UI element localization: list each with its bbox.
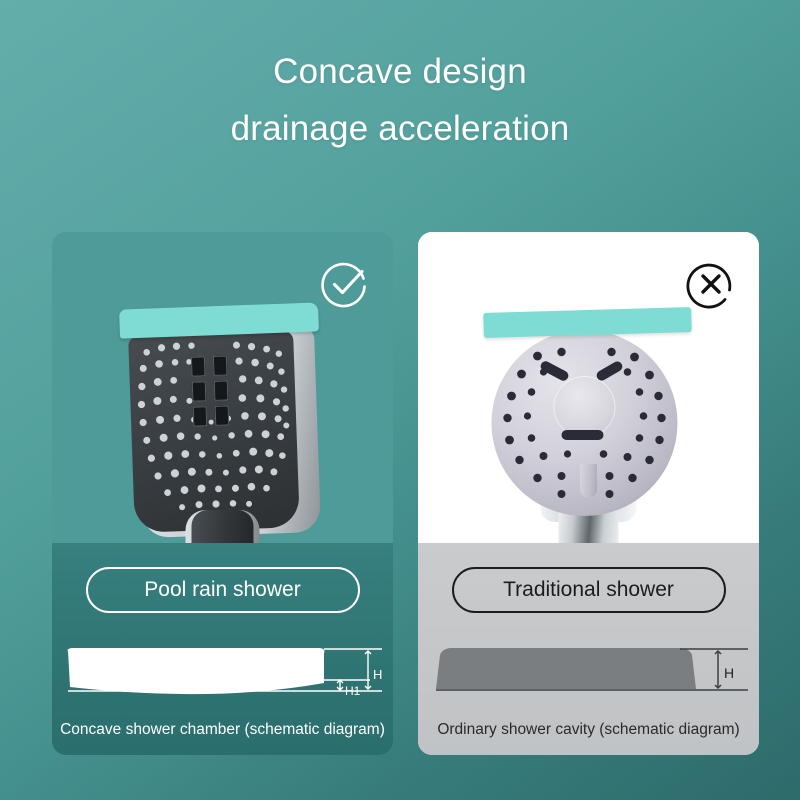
product-photo-left [52,232,393,543]
center-slot-vents [190,355,234,426]
product-photo-right [418,232,759,543]
page-title: Concave design drainage acceleration [0,44,800,157]
shower-drip-nub [580,464,597,498]
product-label-pill-left: Pool rain shower [86,567,360,613]
infographic-canvas: Concave design drainage acceleration [0,0,800,800]
svg-text:H: H [724,665,734,681]
shower-handle [192,510,254,543]
schematic-caption-right: Ordinary shower cavity (schematic diagra… [418,721,759,739]
schematic-panel-right: Traditional shower H Ordinary shower cav… [418,543,759,755]
ordinary-cavity-schematic: H [418,643,759,715]
round-shower-head-graphic [481,304,696,543]
product-label-pill-right: Traditional shower [452,567,726,613]
comparison-card-pool-rain-shower: Pool rain shower H1 [52,232,393,755]
shower-nozzle-face [128,331,300,533]
square-shower-head-graphic [115,306,330,543]
check-circle-icon [319,258,371,310]
svg-text:H: H [373,667,382,682]
mint-accent-cap-right [483,307,692,338]
x-circle-icon [685,258,737,310]
schematic-caption-left: Concave shower chamber (schematic diagra… [52,721,393,739]
center-ring [553,376,615,438]
headline-line-2: drainage acceleration [0,101,800,158]
center-arc-slot [561,430,603,440]
schematic-panel-left: Pool rain shower H1 [52,543,393,755]
comparison-card-traditional-shower: Traditional shower H Ordinary shower cav… [418,232,759,755]
headline-line-1: Concave design [273,52,527,91]
svg-text:H1: H1 [345,684,361,698]
concave-chamber-schematic: H1 H [52,643,393,715]
